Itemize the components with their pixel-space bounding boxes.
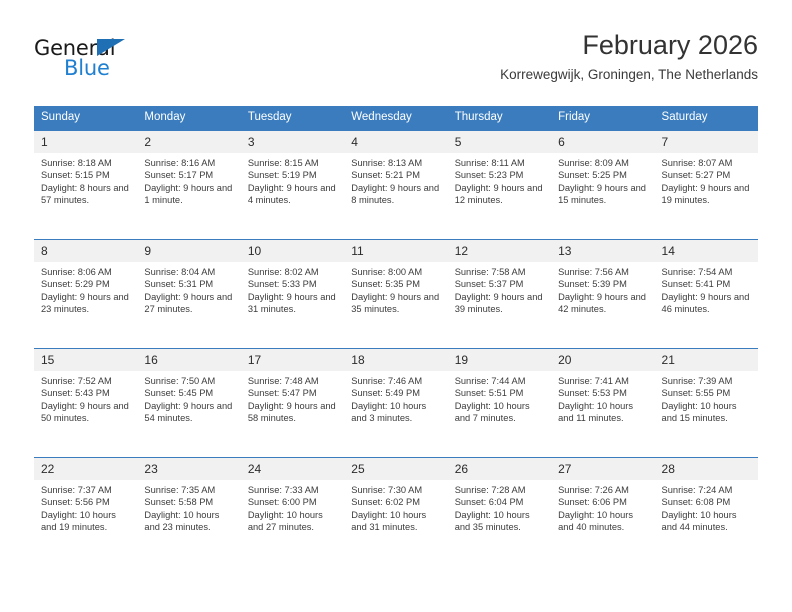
day-cell[interactable]: 4 Sunrise: 8:13 AM Sunset: 5:21 PM Dayli… — [344, 131, 447, 239]
day-number: 4 — [344, 131, 447, 153]
daylight-text: Daylight: 9 hours and 15 minutes. — [558, 182, 646, 207]
sunrise-text: Sunrise: 7:58 AM — [455, 266, 543, 278]
sunrise-text: Sunrise: 7:50 AM — [144, 375, 232, 387]
sunrise-text: Sunrise: 7:37 AM — [41, 484, 129, 496]
sunrise-text: Sunrise: 8:04 AM — [144, 266, 232, 278]
sunset-text: Sunset: 6:08 PM — [662, 496, 750, 508]
sunrise-text: Sunrise: 7:39 AM — [662, 375, 750, 387]
daylight-text: Daylight: 9 hours and 50 minutes. — [41, 400, 129, 425]
sunrise-text: Sunrise: 8:13 AM — [351, 157, 439, 169]
day-info: Sunrise: 8:04 AM Sunset: 5:31 PM Dayligh… — [137, 262, 240, 316]
day-cell[interactable]: 2 Sunrise: 8:16 AM Sunset: 5:17 PM Dayli… — [137, 131, 240, 239]
weekday-header-saturday: Saturday — [655, 106, 758, 130]
daylight-text: Daylight: 10 hours and 23 minutes. — [144, 509, 232, 534]
daylight-text: Daylight: 9 hours and 12 minutes. — [455, 182, 543, 207]
day-info: Sunrise: 8:16 AM Sunset: 5:17 PM Dayligh… — [137, 153, 240, 207]
day-cell[interactable]: 16 Sunrise: 7:50 AM Sunset: 5:45 PM Dayl… — [137, 349, 240, 457]
week-row: 1 Sunrise: 8:18 AM Sunset: 5:15 PM Dayli… — [34, 130, 758, 239]
day-number: 18 — [344, 349, 447, 371]
day-info: Sunrise: 8:07 AM Sunset: 5:27 PM Dayligh… — [655, 153, 758, 207]
sunset-text: Sunset: 5:19 PM — [248, 169, 336, 181]
day-number: 6 — [551, 131, 654, 153]
daylight-text: Daylight: 9 hours and 39 minutes. — [455, 291, 543, 316]
day-info: Sunrise: 7:26 AM Sunset: 6:06 PM Dayligh… — [551, 480, 654, 534]
sunrise-text: Sunrise: 8:06 AM — [41, 266, 129, 278]
sunset-text: Sunset: 5:37 PM — [455, 278, 543, 290]
sunrise-text: Sunrise: 7:44 AM — [455, 375, 543, 387]
week-row: 8 Sunrise: 8:06 AM Sunset: 5:29 PM Dayli… — [34, 239, 758, 348]
day-cell[interactable]: 26 Sunrise: 7:28 AM Sunset: 6:04 PM Dayl… — [448, 458, 551, 566]
logo-text-blue: Blue — [64, 56, 110, 80]
day-info: Sunrise: 8:13 AM Sunset: 5:21 PM Dayligh… — [344, 153, 447, 207]
day-info: Sunrise: 7:58 AM Sunset: 5:37 PM Dayligh… — [448, 262, 551, 316]
sunset-text: Sunset: 5:41 PM — [662, 278, 750, 290]
day-cell[interactable]: 17 Sunrise: 7:48 AM Sunset: 5:47 PM Dayl… — [241, 349, 344, 457]
sunset-text: Sunset: 5:17 PM — [144, 169, 232, 181]
day-cell[interactable]: 13 Sunrise: 7:56 AM Sunset: 5:39 PM Dayl… — [551, 240, 654, 348]
sunset-text: Sunset: 5:55 PM — [662, 387, 750, 399]
day-info: Sunrise: 7:52 AM Sunset: 5:43 PM Dayligh… — [34, 371, 137, 425]
sunset-text: Sunset: 6:04 PM — [455, 496, 543, 508]
daylight-text: Daylight: 9 hours and 23 minutes. — [41, 291, 129, 316]
day-number: 16 — [137, 349, 240, 371]
day-number: 11 — [344, 240, 447, 262]
day-info: Sunrise: 7:35 AM Sunset: 5:58 PM Dayligh… — [137, 480, 240, 534]
day-number: 27 — [551, 458, 654, 480]
day-cell[interactable]: 1 Sunrise: 8:18 AM Sunset: 5:15 PM Dayli… — [34, 131, 137, 239]
day-info: Sunrise: 7:37 AM Sunset: 5:56 PM Dayligh… — [34, 480, 137, 534]
day-cell[interactable]: 18 Sunrise: 7:46 AM Sunset: 5:49 PM Dayl… — [344, 349, 447, 457]
day-info: Sunrise: 7:28 AM Sunset: 6:04 PM Dayligh… — [448, 480, 551, 534]
sunset-text: Sunset: 5:56 PM — [41, 496, 129, 508]
day-info: Sunrise: 8:06 AM Sunset: 5:29 PM Dayligh… — [34, 262, 137, 316]
sunset-text: Sunset: 5:53 PM — [558, 387, 646, 399]
day-number: 10 — [241, 240, 344, 262]
daylight-text: Daylight: 10 hours and 3 minutes. — [351, 400, 439, 425]
day-info: Sunrise: 7:46 AM Sunset: 5:49 PM Dayligh… — [344, 371, 447, 425]
day-number: 26 — [448, 458, 551, 480]
sunset-text: Sunset: 5:29 PM — [41, 278, 129, 290]
sunset-text: Sunset: 5:45 PM — [144, 387, 232, 399]
sunrise-text: Sunrise: 8:07 AM — [662, 157, 750, 169]
sunrise-text: Sunrise: 8:02 AM — [248, 266, 336, 278]
sunset-text: Sunset: 5:27 PM — [662, 169, 750, 181]
sunrise-text: Sunrise: 8:00 AM — [351, 266, 439, 278]
sunset-text: Sunset: 5:23 PM — [455, 169, 543, 181]
daylight-text: Daylight: 9 hours and 35 minutes. — [351, 291, 439, 316]
daylight-text: Daylight: 9 hours and 42 minutes. — [558, 291, 646, 316]
weekday-header-tuesday: Tuesday — [241, 106, 344, 130]
calendar-page: General Blue February 2026 Korrewegwijk,… — [0, 0, 792, 612]
weekday-header-friday: Friday — [551, 106, 654, 130]
day-number: 9 — [137, 240, 240, 262]
weekday-header-wednesday: Wednesday — [344, 106, 447, 130]
day-number: 25 — [344, 458, 447, 480]
sunset-text: Sunset: 5:47 PM — [248, 387, 336, 399]
sunrise-text: Sunrise: 7:33 AM — [248, 484, 336, 496]
sunrise-text: Sunrise: 7:24 AM — [662, 484, 750, 496]
day-cell[interactable]: 7 Sunrise: 8:07 AM Sunset: 5:27 PM Dayli… — [655, 131, 758, 239]
daylight-text: Daylight: 9 hours and 27 minutes. — [144, 291, 232, 316]
day-info: Sunrise: 7:39 AM Sunset: 5:55 PM Dayligh… — [655, 371, 758, 425]
daylight-text: Daylight: 9 hours and 54 minutes. — [144, 400, 232, 425]
week-row: 15 Sunrise: 7:52 AM Sunset: 5:43 PM Dayl… — [34, 348, 758, 457]
day-cell[interactable]: 3 Sunrise: 8:15 AM Sunset: 5:19 PM Dayli… — [241, 131, 344, 239]
sunset-text: Sunset: 6:06 PM — [558, 496, 646, 508]
daylight-text: Daylight: 9 hours and 31 minutes. — [248, 291, 336, 316]
daylight-text: Daylight: 10 hours and 11 minutes. — [558, 400, 646, 425]
daylight-text: Daylight: 10 hours and 40 minutes. — [558, 509, 646, 534]
day-cell[interactable]: 6 Sunrise: 8:09 AM Sunset: 5:25 PM Dayli… — [551, 131, 654, 239]
day-cell[interactable]: 22 Sunrise: 7:37 AM Sunset: 5:56 PM Dayl… — [34, 458, 137, 566]
day-info: Sunrise: 8:18 AM Sunset: 5:15 PM Dayligh… — [34, 153, 137, 207]
day-info: Sunrise: 7:50 AM Sunset: 5:45 PM Dayligh… — [137, 371, 240, 425]
weekday-header-row: Sunday Monday Tuesday Wednesday Thursday… — [34, 106, 758, 130]
sunrise-text: Sunrise: 8:15 AM — [248, 157, 336, 169]
daylight-text: Daylight: 10 hours and 44 minutes. — [662, 509, 750, 534]
sunrise-text: Sunrise: 8:09 AM — [558, 157, 646, 169]
day-number: 8 — [34, 240, 137, 262]
sunrise-text: Sunrise: 8:16 AM — [144, 157, 232, 169]
day-info: Sunrise: 7:56 AM Sunset: 5:39 PM Dayligh… — [551, 262, 654, 316]
sunset-text: Sunset: 5:31 PM — [144, 278, 232, 290]
daylight-text: Daylight: 10 hours and 15 minutes. — [662, 400, 750, 425]
day-cell[interactable]: 20 Sunrise: 7:41 AM Sunset: 5:53 PM Dayl… — [551, 349, 654, 457]
day-cell[interactable]: 5 Sunrise: 8:11 AM Sunset: 5:23 PM Dayli… — [448, 131, 551, 239]
day-info: Sunrise: 8:02 AM Sunset: 5:33 PM Dayligh… — [241, 262, 344, 316]
day-cell[interactable]: 27 Sunrise: 7:26 AM Sunset: 6:06 PM Dayl… — [551, 458, 654, 566]
sunrise-text: Sunrise: 7:54 AM — [662, 266, 750, 278]
day-info: Sunrise: 7:48 AM Sunset: 5:47 PM Dayligh… — [241, 371, 344, 425]
day-info: Sunrise: 7:33 AM Sunset: 6:00 PM Dayligh… — [241, 480, 344, 534]
general-blue-logo[interactable]: General Blue — [34, 36, 154, 88]
page-subtitle: Korrewegwijk, Groningen, The Netherlands — [500, 64, 758, 86]
sunset-text: Sunset: 5:58 PM — [144, 496, 232, 508]
day-cell[interactable]: 9 Sunrise: 8:04 AM Sunset: 5:31 PM Dayli… — [137, 240, 240, 348]
day-number: 17 — [241, 349, 344, 371]
logo-triangle-icon — [97, 39, 125, 56]
day-number: 5 — [448, 131, 551, 153]
day-cell[interactable]: 19 Sunrise: 7:44 AM Sunset: 5:51 PM Dayl… — [448, 349, 551, 457]
sunset-text: Sunset: 6:00 PM — [248, 496, 336, 508]
sunrise-text: Sunrise: 7:26 AM — [558, 484, 646, 496]
sunrise-text: Sunrise: 7:46 AM — [351, 375, 439, 387]
day-number: 22 — [34, 458, 137, 480]
day-number: 28 — [655, 458, 758, 480]
day-number: 13 — [551, 240, 654, 262]
day-info: Sunrise: 8:09 AM Sunset: 5:25 PM Dayligh… — [551, 153, 654, 207]
day-info: Sunrise: 7:44 AM Sunset: 5:51 PM Dayligh… — [448, 371, 551, 425]
sunrise-text: Sunrise: 7:41 AM — [558, 375, 646, 387]
sunrise-text: Sunrise: 8:11 AM — [455, 157, 543, 169]
sunset-text: Sunset: 5:33 PM — [248, 278, 336, 290]
week-row: 22 Sunrise: 7:37 AM Sunset: 5:56 PM Dayl… — [34, 457, 758, 566]
sunset-text: Sunset: 5:51 PM — [455, 387, 543, 399]
day-info: Sunrise: 7:41 AM Sunset: 5:53 PM Dayligh… — [551, 371, 654, 425]
day-cell[interactable]: 21 Sunrise: 7:39 AM Sunset: 5:55 PM Dayl… — [655, 349, 758, 457]
calendar-grid: Sunday Monday Tuesday Wednesday Thursday… — [34, 106, 758, 566]
sunset-text: Sunset: 5:49 PM — [351, 387, 439, 399]
sunset-text: Sunset: 5:35 PM — [351, 278, 439, 290]
title-block: February 2026 Korrewegwijk, Groningen, T… — [500, 28, 758, 86]
daylight-text: Daylight: 9 hours and 8 minutes. — [351, 182, 439, 207]
day-cell[interactable]: 15 Sunrise: 7:52 AM Sunset: 5:43 PM Dayl… — [34, 349, 137, 457]
weekday-header-sunday: Sunday — [34, 106, 137, 130]
page-header: General Blue February 2026 Korrewegwijk,… — [34, 28, 758, 98]
day-number: 12 — [448, 240, 551, 262]
day-cell[interactable]: 23 Sunrise: 7:35 AM Sunset: 5:58 PM Dayl… — [137, 458, 240, 566]
sunset-text: Sunset: 6:02 PM — [351, 496, 439, 508]
daylight-text: Daylight: 9 hours and 4 minutes. — [248, 182, 336, 207]
daylight-text: Daylight: 10 hours and 27 minutes. — [248, 509, 336, 534]
day-cell[interactable]: 12 Sunrise: 7:58 AM Sunset: 5:37 PM Dayl… — [448, 240, 551, 348]
day-number: 24 — [241, 458, 344, 480]
sunset-text: Sunset: 5:25 PM — [558, 169, 646, 181]
day-number: 3 — [241, 131, 344, 153]
sunrise-text: Sunrise: 7:35 AM — [144, 484, 232, 496]
sunrise-text: Sunrise: 8:18 AM — [41, 157, 129, 169]
day-number: 21 — [655, 349, 758, 371]
sunset-text: Sunset: 5:43 PM — [41, 387, 129, 399]
daylight-text: Daylight: 9 hours and 1 minute. — [144, 182, 232, 207]
day-cell[interactable]: 28 Sunrise: 7:24 AM Sunset: 6:08 PM Dayl… — [655, 458, 758, 566]
sunset-text: Sunset: 5:15 PM — [41, 169, 129, 181]
day-number: 19 — [448, 349, 551, 371]
sunrise-text: Sunrise: 7:30 AM — [351, 484, 439, 496]
day-number: 14 — [655, 240, 758, 262]
sunrise-text: Sunrise: 7:52 AM — [41, 375, 129, 387]
day-number: 20 — [551, 349, 654, 371]
daylight-text: Daylight: 9 hours and 46 minutes. — [662, 291, 750, 316]
day-number: 15 — [34, 349, 137, 371]
day-info: Sunrise: 8:15 AM Sunset: 5:19 PM Dayligh… — [241, 153, 344, 207]
daylight-text: Daylight: 10 hours and 35 minutes. — [455, 509, 543, 534]
sunset-text: Sunset: 5:39 PM — [558, 278, 646, 290]
sunrise-text: Sunrise: 7:28 AM — [455, 484, 543, 496]
weekday-header-monday: Monday — [137, 106, 240, 130]
day-number: 1 — [34, 131, 137, 153]
day-cell[interactable]: 10 Sunrise: 8:02 AM Sunset: 5:33 PM Dayl… — [241, 240, 344, 348]
sunrise-text: Sunrise: 7:56 AM — [558, 266, 646, 278]
day-number: 7 — [655, 131, 758, 153]
daylight-text: Daylight: 9 hours and 58 minutes. — [248, 400, 336, 425]
daylight-text: Daylight: 10 hours and 31 minutes. — [351, 509, 439, 534]
day-info: Sunrise: 7:24 AM Sunset: 6:08 PM Dayligh… — [655, 480, 758, 534]
day-cell[interactable]: 25 Sunrise: 7:30 AM Sunset: 6:02 PM Dayl… — [344, 458, 447, 566]
day-info: Sunrise: 8:00 AM Sunset: 5:35 PM Dayligh… — [344, 262, 447, 316]
day-cell[interactable]: 8 Sunrise: 8:06 AM Sunset: 5:29 PM Dayli… — [34, 240, 137, 348]
day-cell[interactable]: 11 Sunrise: 8:00 AM Sunset: 5:35 PM Dayl… — [344, 240, 447, 348]
daylight-text: Daylight: 9 hours and 19 minutes. — [662, 182, 750, 207]
daylight-text: Daylight: 10 hours and 19 minutes. — [41, 509, 129, 534]
day-info: Sunrise: 7:30 AM Sunset: 6:02 PM Dayligh… — [344, 480, 447, 534]
day-number: 2 — [137, 131, 240, 153]
day-number: 23 — [137, 458, 240, 480]
day-info: Sunrise: 8:11 AM Sunset: 5:23 PM Dayligh… — [448, 153, 551, 207]
daylight-text: Daylight: 10 hours and 7 minutes. — [455, 400, 543, 425]
day-cell[interactable]: 14 Sunrise: 7:54 AM Sunset: 5:41 PM Dayl… — [655, 240, 758, 348]
sunrise-text: Sunrise: 7:48 AM — [248, 375, 336, 387]
page-title: February 2026 — [500, 28, 758, 62]
sunset-text: Sunset: 5:21 PM — [351, 169, 439, 181]
weekday-header-thursday: Thursday — [448, 106, 551, 130]
day-cell[interactable]: 24 Sunrise: 7:33 AM Sunset: 6:00 PM Dayl… — [241, 458, 344, 566]
daylight-text: Daylight: 8 hours and 57 minutes. — [41, 182, 129, 207]
day-info: Sunrise: 7:54 AM Sunset: 5:41 PM Dayligh… — [655, 262, 758, 316]
